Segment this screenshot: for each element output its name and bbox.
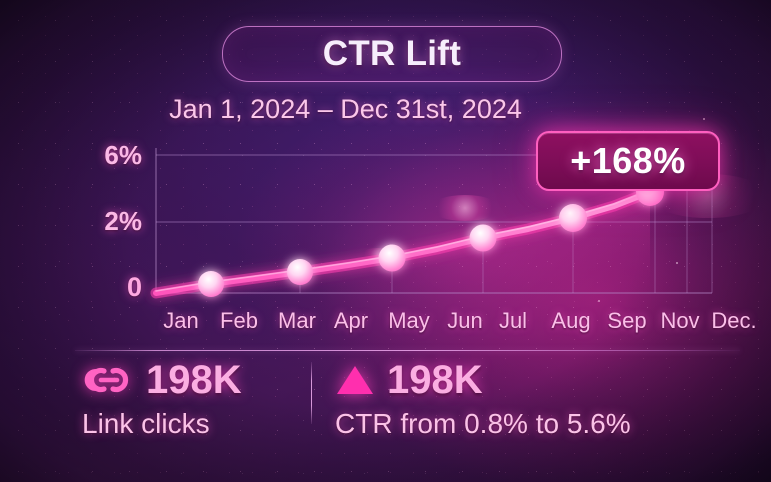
y-axis-label-6pct: 6% <box>80 140 142 171</box>
y-axis-label-0: 0 <box>80 272 142 303</box>
data-point-marker <box>559 204 587 232</box>
x-axis-label-feb: Feb <box>220 308 258 334</box>
footer-divider <box>75 350 740 351</box>
x-axis-label-aug: Aug <box>551 308 590 334</box>
data-point-marker <box>470 225 497 252</box>
link-icon <box>82 364 134 396</box>
infographic-canvas: CTR Lift Jan 1, 2024 – Dec 31st, 2024 <box>0 0 771 482</box>
x-axis-label-sep: Sep <box>607 308 646 334</box>
x-axis-label-nov: Nov <box>660 308 699 334</box>
x-axis-label-jul: Jul <box>499 308 527 334</box>
lift-badge: +168% <box>536 131 720 191</box>
stat-ctr: 198K CTR from 0.8% to 5.6% <box>335 360 631 438</box>
data-point-marker <box>379 245 406 272</box>
lift-badge-value: +168% <box>570 140 686 182</box>
x-axis-label-apr: Apr <box>334 308 368 334</box>
x-axis-label-mar: Mar <box>278 308 316 334</box>
ctr-caption: CTR from 0.8% to 5.6% <box>335 409 631 438</box>
ctr-value: 198K <box>387 360 483 400</box>
footer-vertical-divider <box>311 362 312 424</box>
link-clicks-caption: Link clicks <box>82 409 242 438</box>
x-axis-label-dec: Dec. <box>711 308 756 334</box>
triangle-up-icon <box>335 363 375 397</box>
stat-link-clicks: 198K Link clicks <box>82 360 242 438</box>
x-axis-label-may: May <box>388 308 430 334</box>
x-axis-label-jan: Jan <box>163 308 198 334</box>
x-axis-label-jun: Jun <box>447 308 482 334</box>
data-point-marker <box>198 271 224 297</box>
link-clicks-value: 198K <box>146 360 242 400</box>
data-point-marker <box>287 259 313 285</box>
y-axis-label-2pct: 2% <box>80 206 142 237</box>
